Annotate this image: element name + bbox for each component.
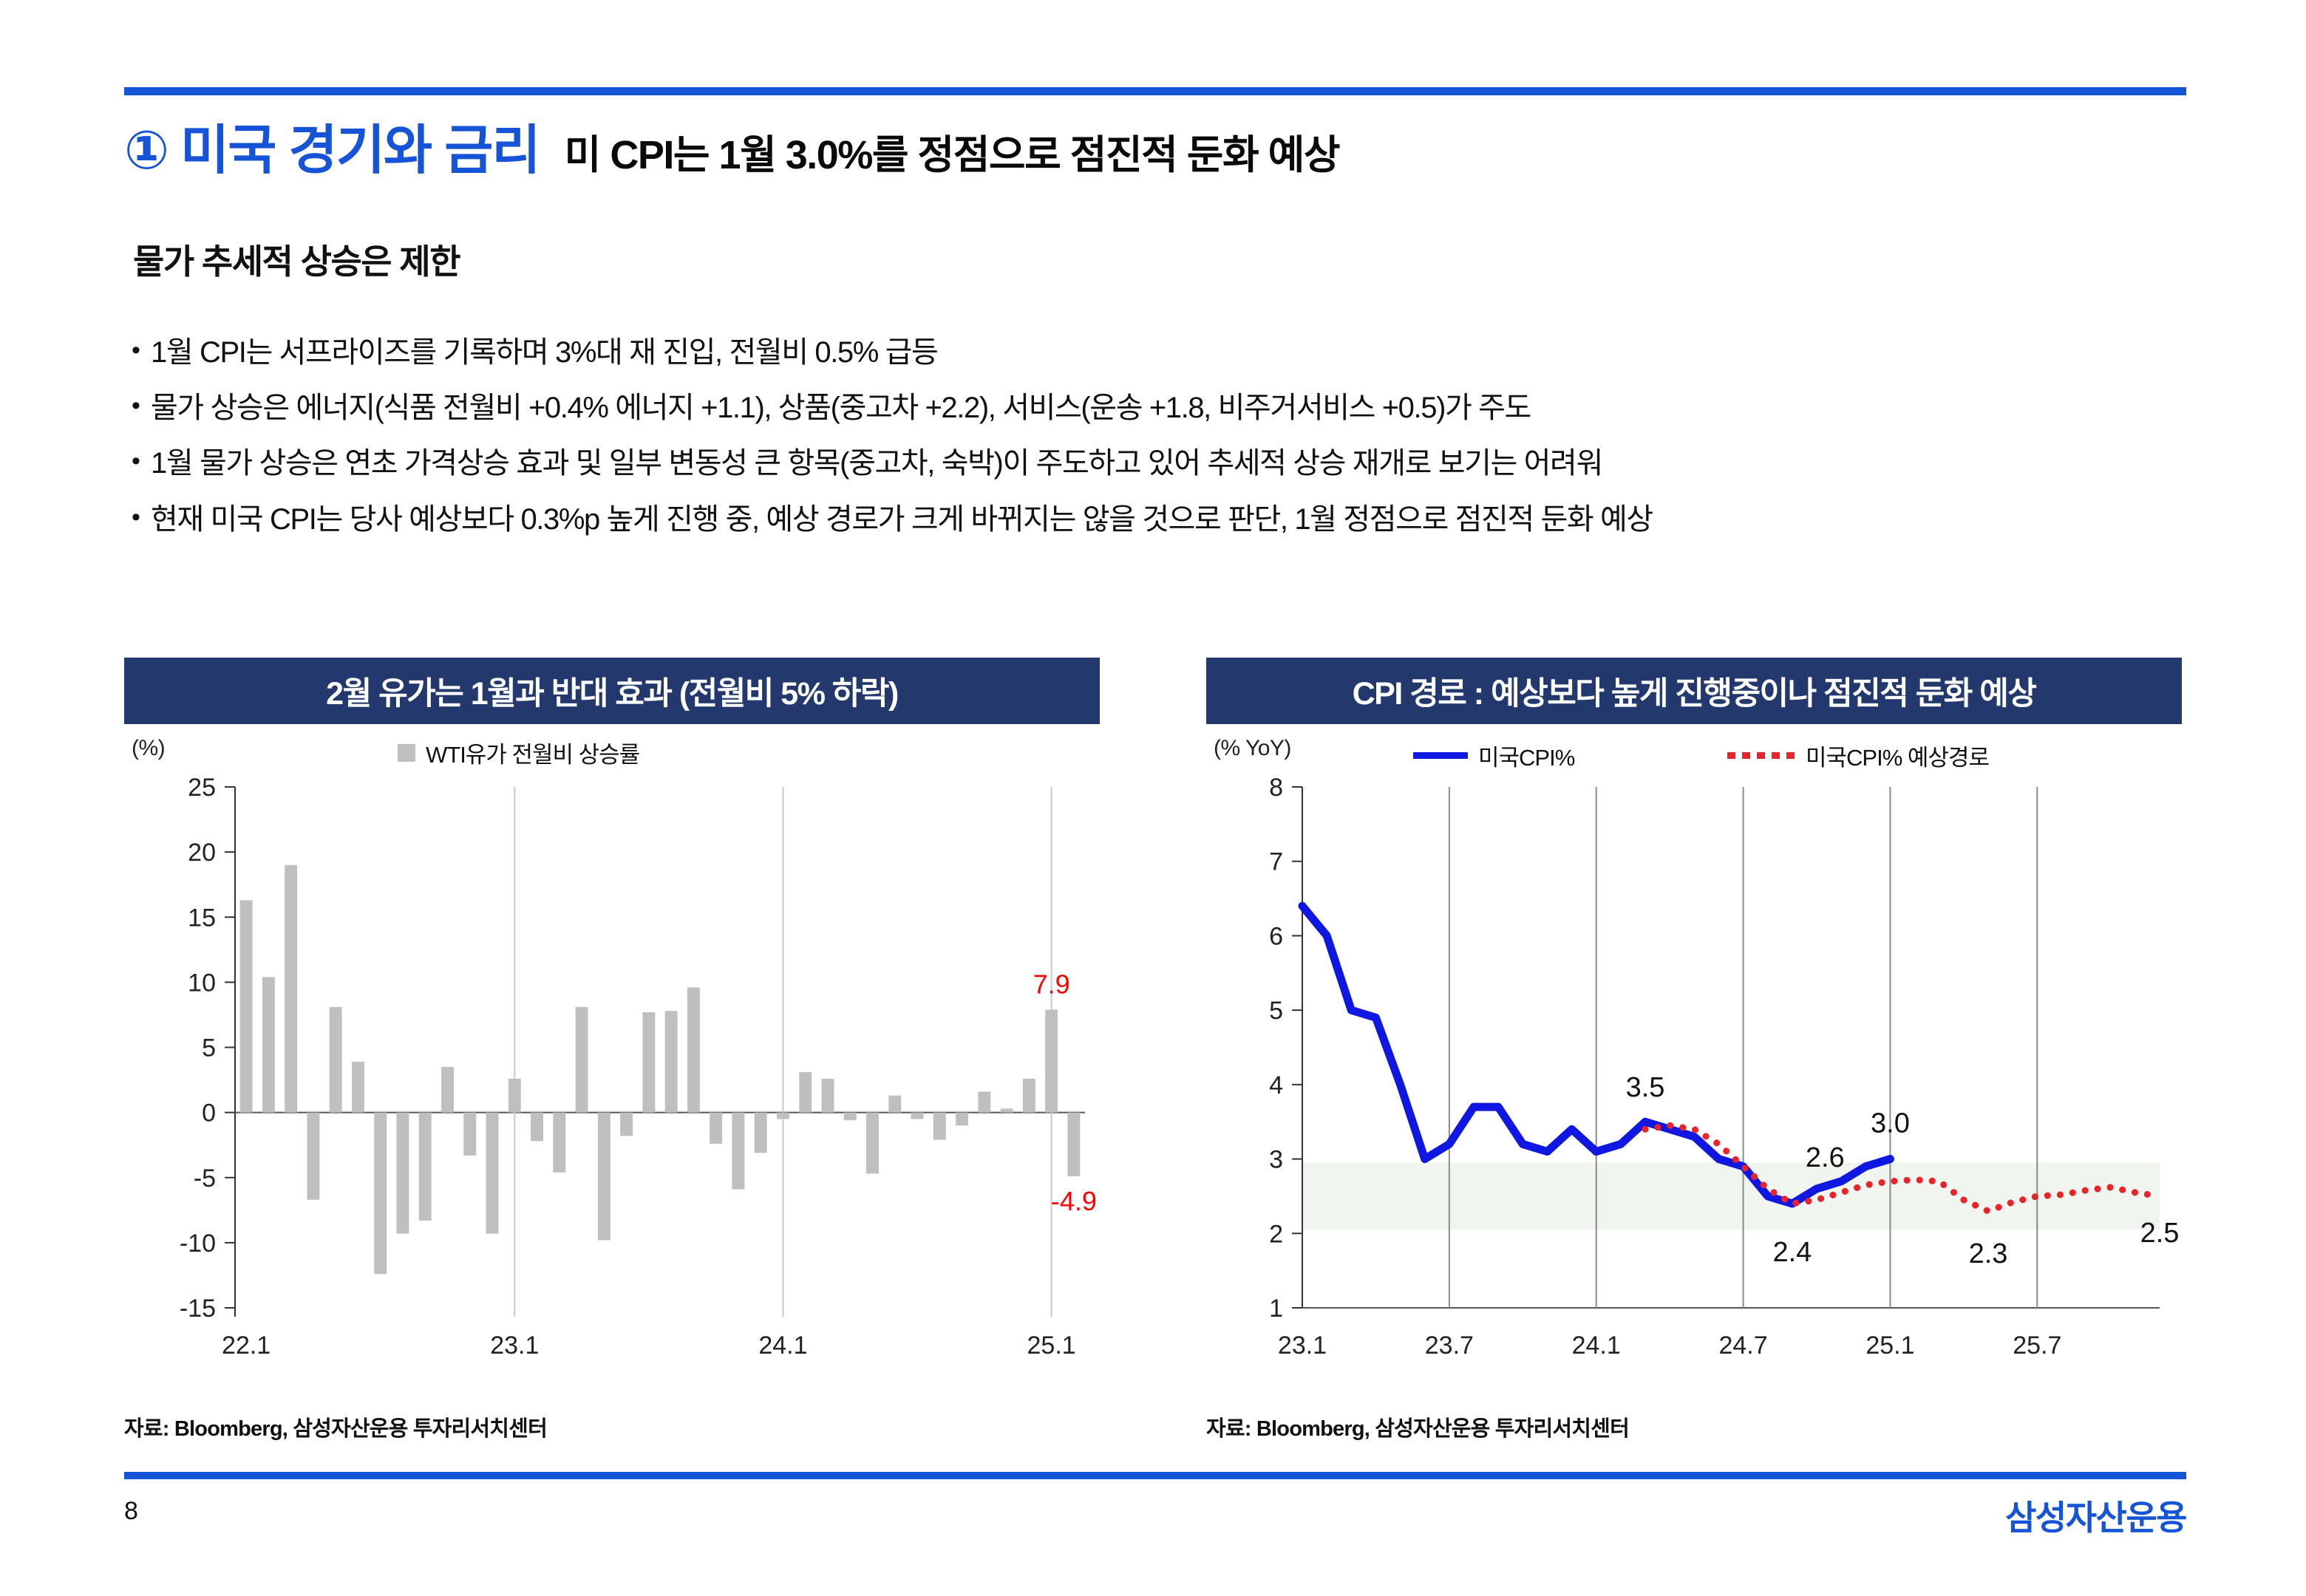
bullet-text: 현재 미국 CPI는 당사 예상보다 0.3%p 높게 진행 중, 예상 경로가… — [151, 501, 2216, 539]
svg-text:5: 5 — [202, 1034, 216, 1063]
bullet-text: 1월 CPI는 서프라이즈를 기록하며 3%대 재 진입, 전월비 0.5% 급… — [151, 334, 2216, 372]
line-chart: (% YoY) 미국CPI% 미국CPI% 예상경로 8765432123.12… — [1206, 724, 2182, 1393]
bar-chart: (%) WTI유가 전월비 상승률 2520151050-5-10-1522.1… — [124, 724, 1100, 1393]
bullet-text: 물가 상승은 에너지(식품 전월비 +0.4% 에너지 +1.1), 상품(중고… — [151, 389, 2216, 427]
svg-text:25.7: 25.7 — [2013, 1331, 2061, 1360]
svg-text:0: 0 — [202, 1099, 216, 1128]
svg-text:2: 2 — [1269, 1220, 1283, 1248]
slide-title-subtitle: 미 CPI는 1월 3.0%를 정점으로 점진적 둔화 예상 — [565, 135, 1339, 175]
chart-legend-forecast: 미국CPI% 예상경로 — [1727, 739, 1989, 772]
bullet-marker-icon: • — [132, 501, 151, 535]
svg-text:24.1: 24.1 — [758, 1331, 807, 1360]
slide-title-row: ① 미국 경기와 금리 미 CPI는 1월 3.0%를 정점으로 점진적 둔화 … — [124, 124, 2194, 195]
list-item: • 현재 미국 CPI는 당사 예상보다 0.3%p 높게 진행 중, 예상 경… — [132, 501, 2216, 539]
svg-text:2.4: 2.4 — [1772, 1237, 1812, 1268]
svg-text:2.3: 2.3 — [1969, 1238, 2008, 1269]
chart-source: 자료: Bloomberg, 삼성자산운용 투자리서치센터 — [1206, 1411, 1629, 1442]
svg-text:5: 5 — [1269, 997, 1283, 1025]
chart-panel-oil: 2월 유가는 1월과 반대 효과 (전월비 5% 하락) (%) WTI유가 전… — [124, 658, 1100, 1448]
y-axis-unit: (% YoY) — [1214, 736, 1291, 761]
bullet-marker-icon: • — [132, 445, 151, 479]
svg-text:3.0: 3.0 — [1871, 1108, 1910, 1139]
y-axis-unit: (%) — [132, 736, 165, 761]
svg-text:-10: -10 — [180, 1230, 216, 1258]
bullet-list: • 1월 CPI는 서프라이즈를 기록하며 3%대 재 진입, 전월비 0.5%… — [132, 334, 2216, 556]
chart-legend: WTI유가 전월비 상승률 — [398, 736, 639, 769]
svg-text:23.1: 23.1 — [490, 1331, 539, 1360]
slide: ① 미국 경기와 금리 미 CPI는 1월 3.0%를 정점으로 점진적 둔화 … — [0, 0, 2306, 1596]
chart-source: 자료: Bloomberg, 삼성자산운용 투자리서치센터 — [124, 1411, 547, 1442]
chart-panel-cpi: CPI 경로 : 예상보다 높게 진행중이나 점진적 둔화 예상 (% YoY)… — [1206, 658, 2182, 1448]
svg-text:3.5: 3.5 — [1626, 1072, 1665, 1103]
panel-header: CPI 경로 : 예상보다 높게 진행중이나 점진적 둔화 예상 — [1206, 658, 2182, 724]
svg-text:24.1: 24.1 — [1572, 1331, 1621, 1360]
svg-text:20: 20 — [188, 839, 216, 867]
svg-text:23.7: 23.7 — [1425, 1331, 1474, 1360]
line-chart-svg: 8765432123.123.724.124.725.125.73.52.63.… — [1206, 724, 2182, 1393]
company-logo: 삼성자산운용 — [2005, 1491, 2186, 1540]
legend-swatch-line-icon — [1413, 752, 1468, 759]
bar-chart-svg: 2520151050-5-10-1522.123.124.125.17.9-4.… — [124, 724, 1100, 1393]
svg-text:2.6: 2.6 — [1806, 1142, 1845, 1173]
list-item: • 1월 물가 상승은 연초 가격상승 효과 및 일부 변동성 큰 항목(중고차… — [132, 445, 2216, 482]
svg-text:7.9: 7.9 — [1033, 969, 1070, 999]
svg-text:23.1: 23.1 — [1278, 1331, 1327, 1360]
legend-swatch-bar-icon — [398, 744, 415, 762]
svg-text:2.5: 2.5 — [2140, 1218, 2180, 1249]
legend-label: WTI유가 전월비 상승률 — [426, 736, 639, 769]
page-number: 8 — [124, 1497, 138, 1526]
svg-text:25: 25 — [188, 774, 216, 802]
bullet-text: 1월 물가 상승은 연초 가격상승 효과 및 일부 변동성 큰 항목(중고차, … — [151, 445, 2216, 482]
svg-text:24.7: 24.7 — [1718, 1331, 1767, 1360]
legend-label: 미국CPI% 예상경로 — [1806, 739, 1989, 772]
panel-header: 2월 유가는 1월과 반대 효과 (전월비 5% 하락) — [124, 658, 1100, 724]
svg-text:4: 4 — [1269, 1071, 1283, 1099]
list-item: • 1월 CPI는 서프라이즈를 기록하며 3%대 재 진입, 전월비 0.5%… — [132, 334, 2216, 372]
slide-title-number: ① — [124, 124, 169, 177]
svg-text:8: 8 — [1269, 774, 1283, 802]
list-item: • 물가 상승은 에너지(식품 전월비 +0.4% 에너지 +1.1), 상품(… — [132, 389, 2216, 427]
footer-divider — [124, 1472, 2186, 1479]
svg-text:25.1: 25.1 — [1865, 1331, 1914, 1360]
panel-title: 2월 유가는 1월과 반대 효과 (전월비 5% 하락) — [326, 668, 898, 714]
legend-label: 미국CPI% — [1478, 739, 1574, 772]
svg-text:10: 10 — [188, 969, 216, 997]
svg-text:-5: -5 — [194, 1164, 216, 1193]
svg-text:-15: -15 — [180, 1295, 216, 1323]
svg-text:3: 3 — [1269, 1146, 1283, 1174]
svg-text:15: 15 — [188, 904, 216, 932]
svg-text:1: 1 — [1269, 1295, 1283, 1323]
slide-title-main: 미국 경기와 금리 — [180, 124, 540, 177]
svg-text:25.1: 25.1 — [1027, 1331, 1076, 1360]
svg-text:7: 7 — [1269, 848, 1283, 876]
svg-text:-4.9: -4.9 — [1051, 1186, 1097, 1216]
chart-legend-actual: 미국CPI% — [1413, 739, 1574, 772]
section-heading: 물가 추세적 상승은 제한 — [133, 235, 460, 284]
bullet-marker-icon: • — [132, 334, 151, 368]
legend-swatch-dotted-icon — [1727, 752, 1795, 759]
header-divider — [124, 87, 2186, 95]
bullet-marker-icon: • — [132, 389, 151, 423]
svg-text:22.1: 22.1 — [222, 1331, 271, 1360]
panel-title: CPI 경로 : 예상보다 높게 진행중이나 점진적 둔화 예상 — [1353, 668, 2036, 714]
svg-text:6: 6 — [1269, 922, 1283, 950]
